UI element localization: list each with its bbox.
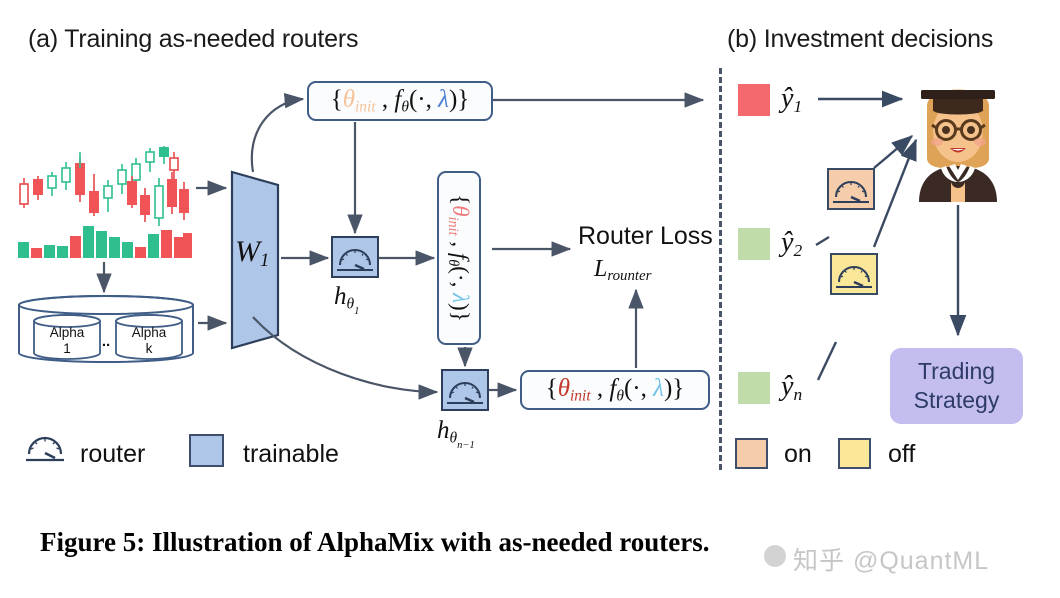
connector-arrows-panel-b [0, 0, 1060, 598]
figure-canvas: (a) Training as-needed routers (b) Inves… [0, 0, 1060, 598]
graduate-scholar-avatar [905, 62, 1011, 202]
figure-caption: Figure 5: Illustration of AlphaMix with … [40, 527, 710, 558]
router-gauge-off[interactable] [830, 253, 878, 295]
legend-off-label: off [888, 440, 915, 469]
legend-off-swatch [838, 438, 871, 469]
router-gauge-on[interactable] [827, 168, 875, 210]
watermark-text: 知乎 @QuantML [793, 541, 989, 577]
legend-on-label: on [784, 440, 812, 469]
watermark-logo [764, 545, 786, 567]
legend-on-swatch [735, 438, 768, 469]
trading-strategy-box[interactable]: Trading Strategy [890, 348, 1023, 424]
trading-strategy-line1: Trading [918, 357, 995, 386]
trading-strategy-line2: Strategy [914, 386, 1000, 415]
